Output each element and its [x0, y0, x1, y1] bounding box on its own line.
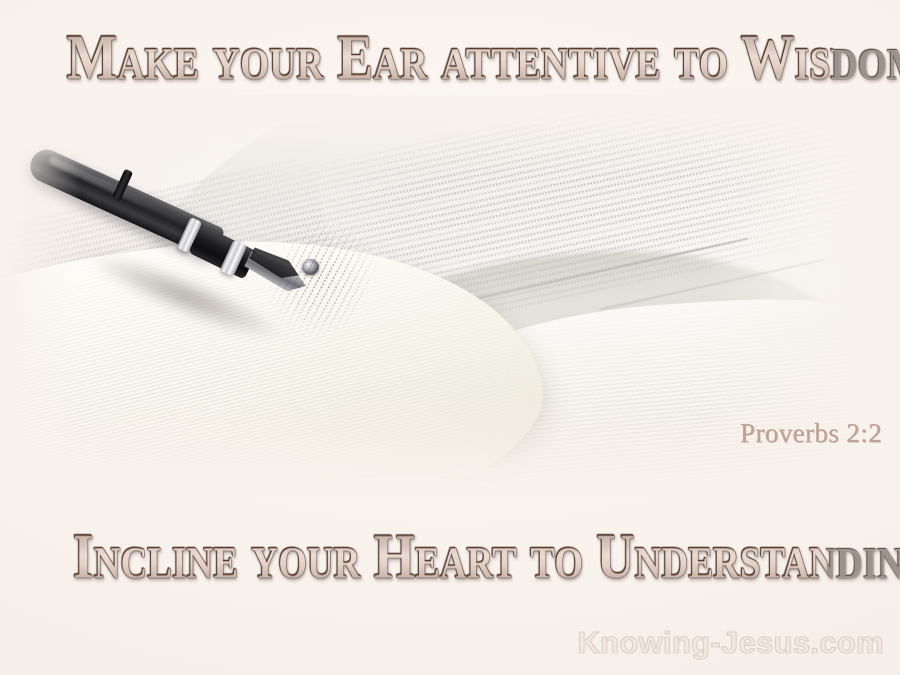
verse-line-bottom: Incline your Heart to Understanding — [73, 525, 827, 588]
verse-reference: Proverbs 2:2 — [740, 418, 882, 449]
verse-line-top: Make your Ear attentive to Wisdom — [67, 26, 834, 89]
site-watermark: Knowing-Jesus.com — [577, 625, 884, 661]
verse-image-canvas: Make your Ear attentive to Wisdom Inclin… — [0, 0, 900, 675]
